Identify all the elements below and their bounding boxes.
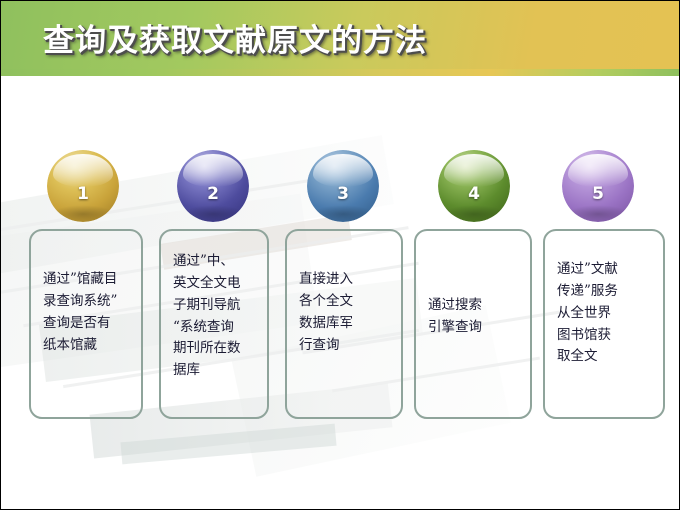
step-box-1[interactable]: 通过”馆藏目 录查询系统” 查询是否有 纸本馆藏 [29, 229, 143, 419]
step-number-1: 1 [47, 186, 119, 203]
step-sphere-5[interactable]: 5 [562, 150, 634, 222]
step-description-2: 通过”中、 英文全文电 子期刊导航 “系统查询 期刊所在数 据库 [173, 251, 259, 382]
step-description-1: 通过”馆藏目 录查询系统” 查询是否有 纸本馆藏 [43, 269, 133, 356]
step-box-4[interactable]: 通过搜索 引擎查询 [414, 229, 532, 419]
step-description-4: 通过搜索 引擎查询 [428, 295, 522, 339]
step-box-5[interactable]: 通过”文献 传递”服务 从全世界 图书馆获 取全文 [543, 229, 665, 419]
step-number-5: 5 [562, 186, 634, 203]
slide-canvas: 查询及获取文献原文的方法 1 2 3 4 5 通过”馆藏目 录查询系统” 查询是… [0, 0, 680, 510]
step-sphere-3[interactable]: 3 [307, 150, 379, 222]
step-sphere-1[interactable]: 1 [47, 150, 119, 222]
step-number-2: 2 [177, 186, 249, 203]
step-description-3: 直接进入 各个全文 数据库军 行查询 [299, 269, 393, 356]
page-title: 查询及获取文献原文的方法 [43, 15, 427, 60]
step-number-3: 3 [307, 186, 379, 203]
step-sphere-2[interactable]: 2 [177, 150, 249, 222]
step-number-4: 4 [438, 186, 510, 203]
step-box-3[interactable]: 直接进入 各个全文 数据库军 行查询 [285, 229, 403, 419]
step-box-2[interactable]: 通过”中、 英文全文电 子期刊导航 “系统查询 期刊所在数 据库 [159, 229, 269, 419]
step-sphere-4[interactable]: 4 [438, 150, 510, 222]
step-description-5: 通过”文献 传递”服务 从全世界 图书馆获 取全文 [557, 259, 655, 368]
title-banner-underline [1, 69, 680, 76]
